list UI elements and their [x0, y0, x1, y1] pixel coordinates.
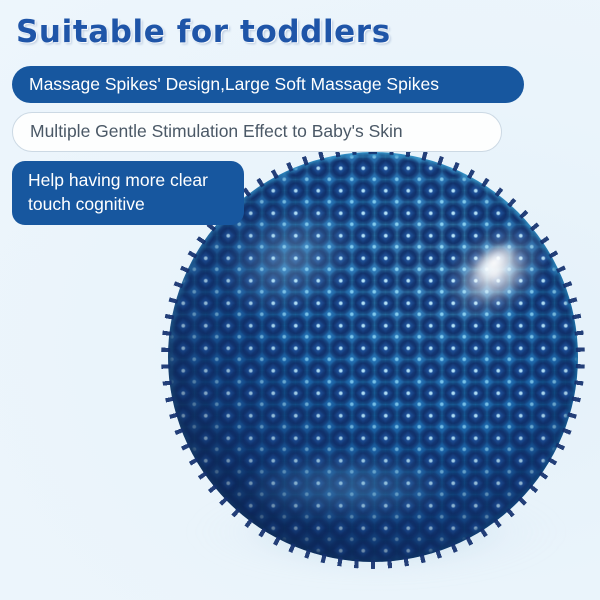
page-title: Suitable for toddlers: [16, 14, 391, 50]
feature-badge-gentle-stimulation: Multiple Gentle Stimulation Effect to Ba…: [12, 112, 502, 151]
feature-badge-list: Massage Spikes' Design,Large Soft Massag…: [12, 66, 552, 234]
feature-badge-massage-spikes: Massage Spikes' Design,Large Soft Massag…: [12, 66, 524, 103]
feature-badge-touch-cognitive: Help having more clear touch cognitive: [12, 161, 244, 225]
product-promo-image: Suitable for toddlers Massage Spikes' De…: [0, 0, 600, 600]
